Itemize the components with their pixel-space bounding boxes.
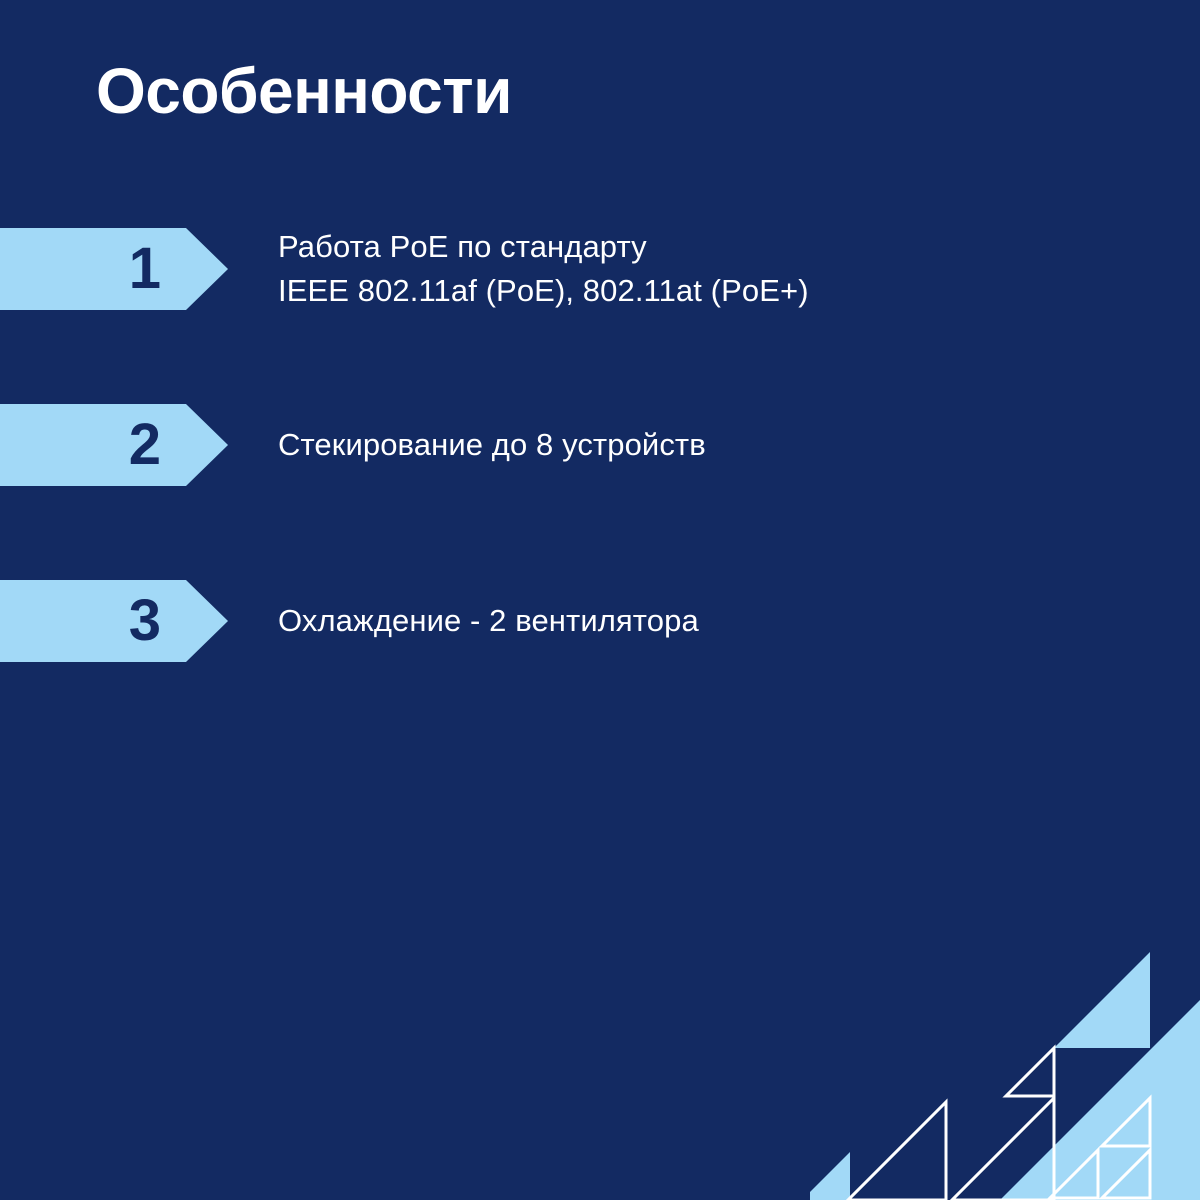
feature-text-1: Работа PoE по стандарту IEEE 802.11af (P… (278, 225, 809, 313)
decor-outline-triangle-step-b (952, 1098, 1054, 1200)
feature-badge-2: 2 (0, 404, 228, 486)
decor-filled-triangle-top (1054, 952, 1150, 1048)
feature-list: 1 Работа PoE по стандарту IEEE 802.11af … (0, 228, 1200, 662)
feature-number-1: 1 (129, 240, 160, 298)
feature-item-2: 2 Стекирование до 8 устройств (0, 404, 1200, 486)
decor-outline-triangle-light-3 (1050, 1150, 1098, 1198)
feature-item-1: 1 Работа PoE по стандарту IEEE 802.11af … (0, 228, 1200, 310)
feature-text-2: Стекирование до 8 устройств (278, 423, 706, 467)
triangle-mosaic-corner-decoration (810, 930, 1200, 1200)
decor-filled-triangle-left (810, 1152, 850, 1200)
decor-outline-triangle-mid (1006, 1048, 1054, 1096)
decor-outline-triangle-light-2 (1102, 1150, 1150, 1198)
decor-outline-triangle-light-1 (1102, 1098, 1150, 1146)
feature-badge-1: 1 (0, 228, 228, 310)
feature-badge-3: 3 (0, 580, 228, 662)
slide-canvas: Особенности 1 Работа PoE по стандарту IE… (0, 0, 1200, 1200)
triangle-mosaic-svg (810, 930, 1200, 1200)
page-title: Особенности (96, 58, 512, 125)
decor-filled-wedge-main (1000, 1000, 1200, 1200)
decor-outline-triangle-step-a (848, 1102, 946, 1200)
feature-text-3: Охлаждение - 2 вентилятора (278, 599, 699, 643)
feature-number-2: 2 (129, 416, 160, 474)
feature-item-3: 3 Охлаждение - 2 вентилятора (0, 580, 1200, 662)
feature-number-3: 3 (129, 592, 160, 650)
